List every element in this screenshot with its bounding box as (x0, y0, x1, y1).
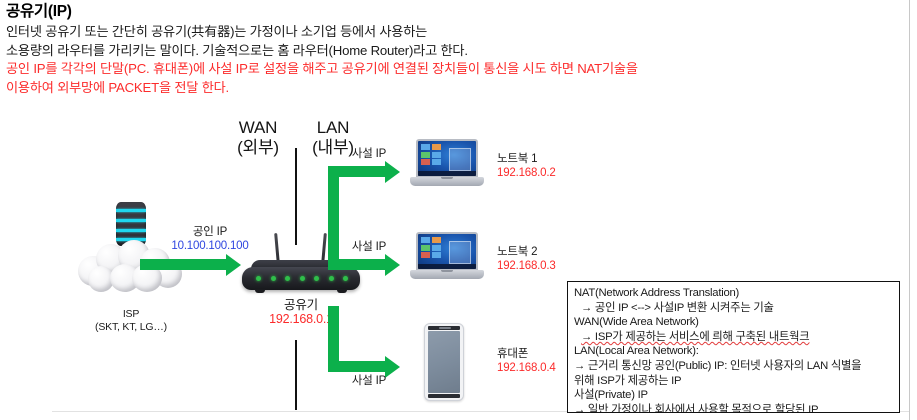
isp-node (76, 202, 186, 312)
legend-line-6: → 근거리 통신망 공인(Public) IP: 인터넷 사용자의 LAN 식별… (574, 359, 893, 374)
description-line-2: 소용량의 라우터를 가리키는 말이다. 기술적으로는 홈 라우터(Home Ro… (6, 42, 886, 61)
wan-link-label: 공인 IP (193, 226, 227, 238)
wan-arrow-shaft (140, 259, 226, 270)
device-laptop-2-icon (410, 232, 484, 282)
lan-link-2-caption: 사설 IP (333, 240, 405, 254)
device-laptop-2-ip: 192.168.0.3 (497, 259, 607, 273)
device-laptop-1-ip: 192.168.0.2 (497, 166, 607, 180)
zone-divider-upper (295, 148, 297, 245)
header-text-block: 공유기(IP) 인터넷 공유기 또는 간단히 공유기(共有器)는 가정이나 소기… (6, 2, 886, 97)
lan-arrow-2-head (385, 254, 400, 276)
isp-providers: (SKT, KT, LG…) (66, 321, 196, 334)
device-laptop-1-name: 노트북 1 (497, 152, 607, 166)
zone-lan-name: LAN (317, 118, 349, 137)
phone-bottom-bezel (428, 394, 460, 398)
laptop-1-start-tiles (421, 144, 441, 166)
legend-line-2: → 공인 IP <--> 사설IP 변환 시켜주는 기술 (574, 301, 893, 316)
laptop-1-taskbar (418, 171, 476, 176)
glossary-notes-box: NAT(Network Address Translation) → 공인 IP… (567, 281, 900, 413)
lan-arrow-2-shaft (328, 259, 385, 270)
lan-arrow-1-horizontal (328, 166, 385, 177)
legend-line-5: LAN(Local Area Network): (574, 344, 893, 359)
router-foot-left (255, 289, 265, 293)
legend-line-8: 사설(Private) IP (574, 388, 893, 403)
phone-earpiece (439, 327, 451, 329)
page-title: 공유기(IP) (6, 2, 886, 22)
page-root: 공유기(IP) 인터넷 공유기 또는 간단히 공유기(共有器)는 가정이나 소기… (0, 0, 917, 420)
description-line-3: 공인 IP를 각각의 단말(PC. 휴대폰)에 사설 IP로 설정을 해주고 공… (6, 60, 886, 79)
laptop-1-window (449, 148, 471, 171)
legend-line-9: → 일반 가정이나 회사에서 사용할 목적으로 할당된 IP (574, 403, 893, 413)
laptop-1-lid (416, 139, 478, 178)
router-label: 공유기 (284, 298, 318, 312)
laptop-2-window (449, 241, 471, 264)
laptop-1-hinge (441, 177, 453, 179)
zone-wan-name: WAN (239, 118, 277, 137)
device-laptop-2-name: 노트북 2 (497, 245, 607, 259)
laptop-2-screen (418, 234, 476, 269)
lan-link-3-caption: 사설 IP (333, 374, 405, 388)
isp-label: ISP (123, 308, 139, 320)
laptop-1-screen (418, 141, 476, 176)
legend-line-7: 위해 ISP가 제공하는 IP (574, 374, 893, 389)
laptop-2-hinge (441, 270, 453, 272)
router-caption: 공유기 192.168.0.1 (236, 298, 366, 326)
laptop-2-start-tiles (421, 237, 441, 259)
device-phone-icon (424, 323, 464, 401)
zone-divider-lower (295, 340, 297, 410)
lan-arrow-1-vertical (328, 166, 339, 270)
router-led-strip (256, 275, 348, 282)
legend-line-1: NAT(Network Address Translation) (574, 286, 893, 301)
router-foot-right (337, 289, 347, 293)
laptop-2-taskbar (418, 264, 476, 269)
laptop-2-lid (416, 232, 478, 271)
description-line-1: 인터넷 공유기 또는 간단히 공유기(共有器)는 가정이나 소기업 등에서 사용… (6, 23, 886, 42)
device-laptop-2-caption: 노트북 2 192.168.0.3 (497, 245, 607, 273)
legend-line-3: WAN(Wide Area Network) (574, 315, 893, 330)
lan-arrow-1-head (385, 161, 400, 183)
phone-screen (428, 331, 460, 393)
lan-link-1-caption: 사설 IP (333, 147, 405, 161)
description-line-4: 이용하여 외부망에 PACKET을 전달 한다. (6, 79, 886, 98)
legend-line-4: → ISP가 제공하는 서비스에 릐해 구축된 내트웍크 (574, 330, 893, 345)
device-laptop-1-icon (410, 139, 484, 189)
isp-caption: ISP (SKT, KT, LG…) (66, 308, 196, 334)
wan-arrow-head (226, 254, 241, 276)
lan-arrow-3-horizontal (328, 361, 385, 372)
router-ip-value: 192.168.0.1 (236, 312, 366, 326)
device-laptop-1-caption: 노트북 1 192.168.0.2 (497, 152, 607, 180)
